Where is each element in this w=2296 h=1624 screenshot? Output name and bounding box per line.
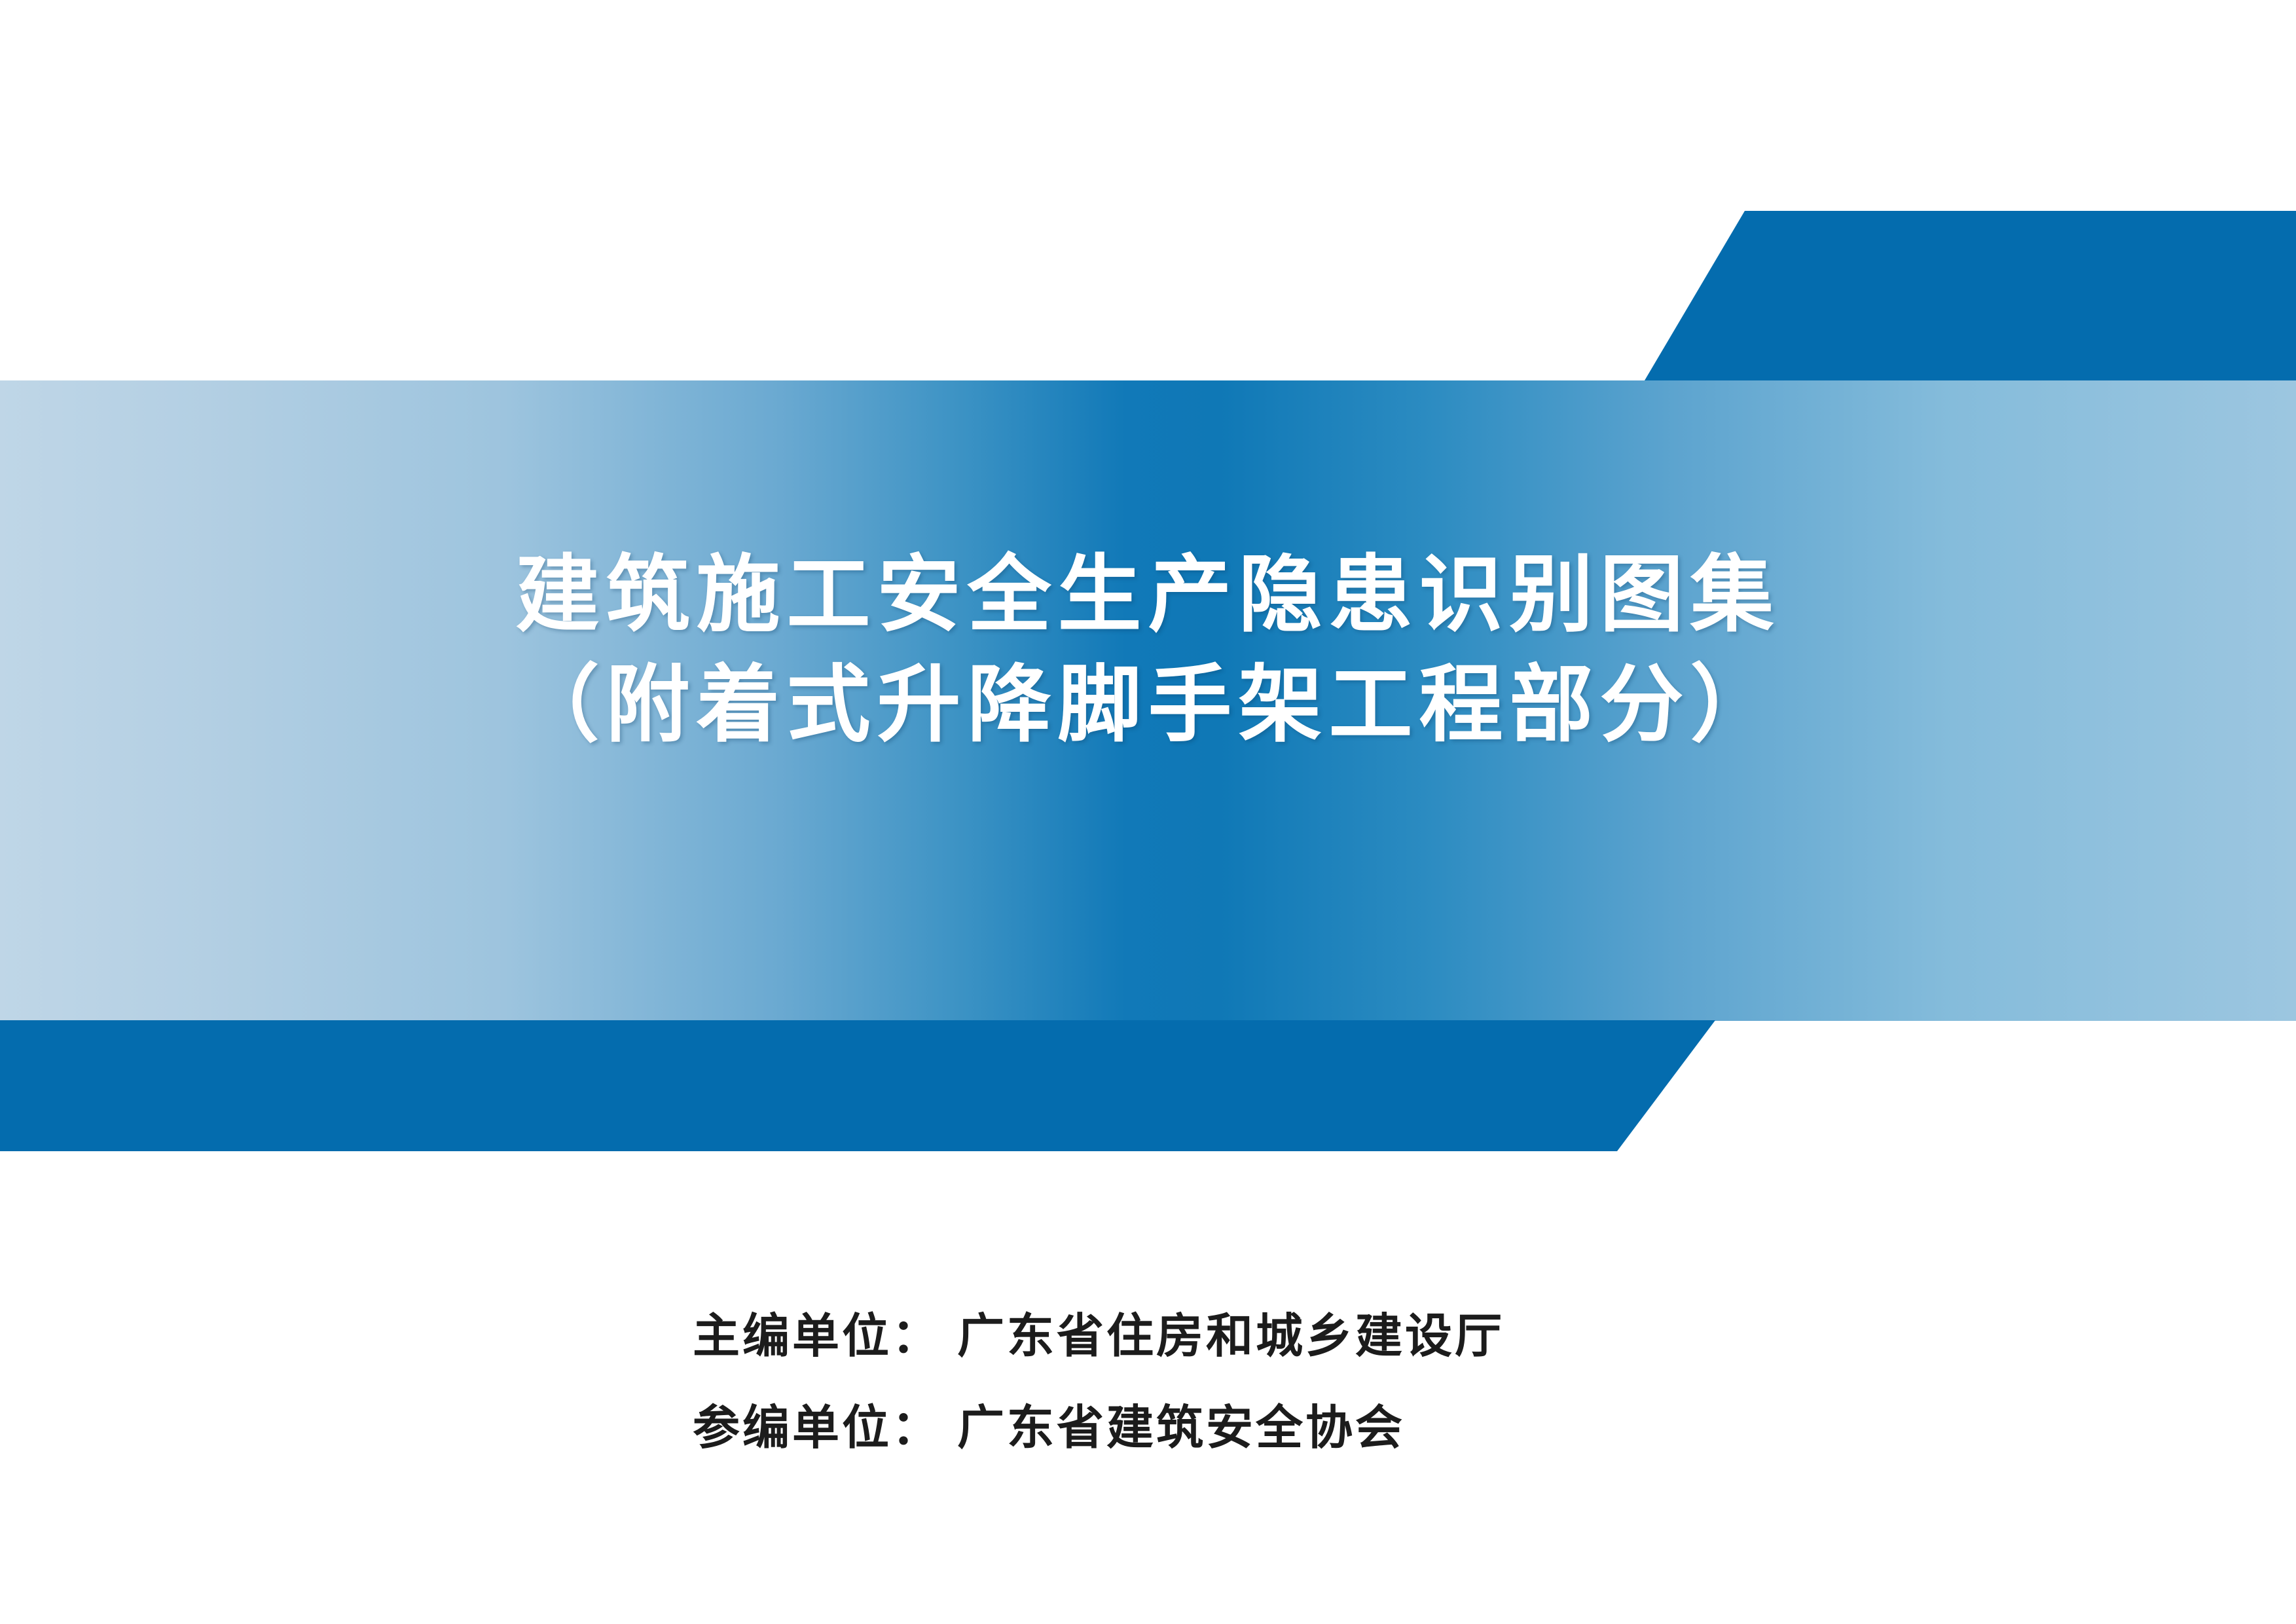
cover-page: 建筑施工安全生产隐患识别图集 （附着式升降脚手架工程部分） 主编单位： 广东省住… (0, 0, 2296, 1624)
center-gradient-band (0, 380, 2296, 1021)
credits-block: 主编单位： 广东省住房和城乡建设厅 参编单位： 广东省建筑安全协会 (693, 1313, 1871, 1452)
top-right-parallelogram-decoration (1604, 211, 2296, 380)
credit-participating-organization: 参编单位： 广东省建筑安全协会 (693, 1405, 1871, 1452)
bottom-left-parallelogram-decoration (0, 1020, 1715, 1151)
credit-chief-editor-organization: 主编单位： 广东省住房和城乡建设厅 (693, 1313, 1871, 1360)
